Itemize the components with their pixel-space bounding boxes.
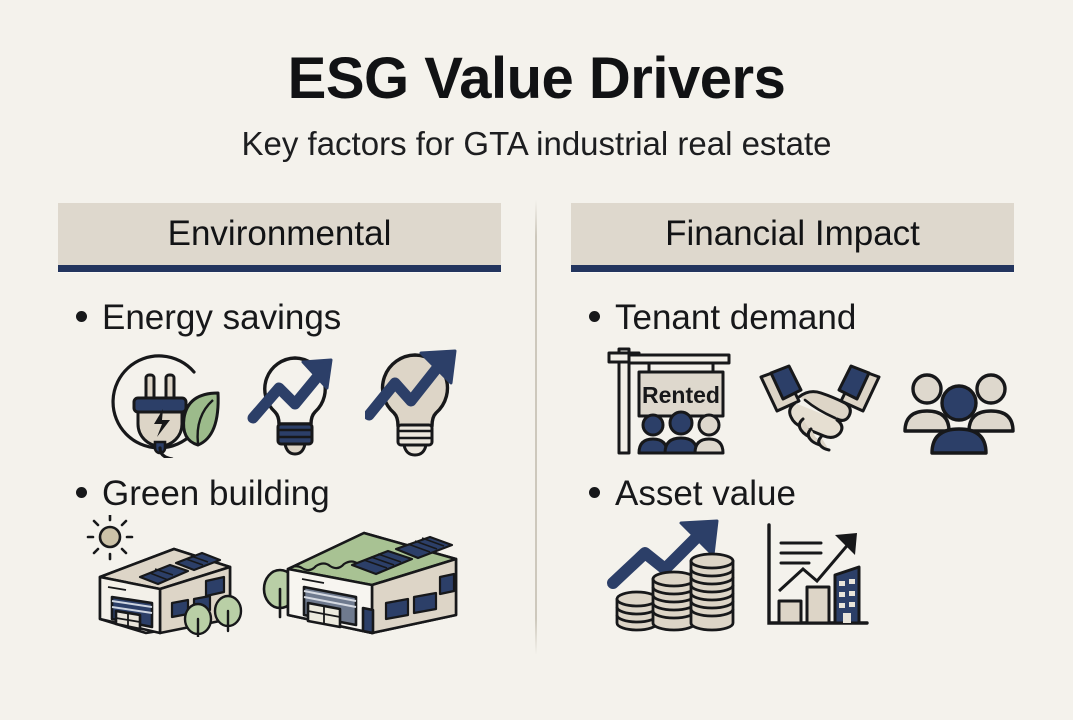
column-environmental: Environmental Energy savings: [58, 203, 501, 272]
page-subtitle: Key factors for GTA industrial real esta…: [0, 124, 1073, 164]
green-roof-warehouse-icon: [260, 515, 486, 637]
plug-leaf-icon: [100, 348, 225, 458]
lightbulb-growth-outline-icon: [247, 348, 343, 458]
icon-row-asset-value: [607, 513, 871, 633]
rented-sign-icon: Rented: [605, 343, 737, 457]
page-title: ESG Value Drivers: [0, 48, 1073, 110]
bar-chart-building-icon: [759, 519, 871, 633]
column-heading-band-financial: Financial Impact: [571, 203, 1014, 265]
lightbulb-growth-filled-icon: [365, 343, 469, 458]
infographic-slide: ESG Value Drivers Key factors for GTA in…: [0, 0, 1073, 720]
bullet-asset-value: Asset value: [589, 474, 796, 514]
people-group-icon: [903, 361, 1015, 457]
column-divider: [535, 200, 537, 655]
bullet-label: Energy savings: [102, 298, 341, 338]
icon-row-tenant-demand: Rented: [605, 343, 1015, 457]
column-heading-band-environmental: Environmental: [58, 203, 501, 265]
solar-warehouse-icon: [78, 515, 246, 637]
bullet-label: Tenant demand: [615, 298, 856, 338]
coin-stacks-growth-icon: [607, 513, 735, 633]
column-heading-label: Environmental: [168, 215, 392, 253]
bullet-label: Asset value: [615, 474, 796, 514]
column-heading-underline: [58, 265, 501, 272]
bullet-green-building: Green building: [76, 474, 330, 514]
bullet-energy-savings: Energy savings: [76, 298, 341, 338]
bullet-dot-icon: [589, 311, 600, 322]
icon-row-green-building: [78, 515, 486, 637]
rented-sign-label: Rented: [642, 382, 720, 408]
handshake-icon: [759, 357, 881, 457]
bullet-dot-icon: [589, 487, 600, 498]
icon-row-energy-savings: [100, 343, 469, 458]
column-heading-underline: [571, 265, 1014, 272]
bullet-tenant-demand: Tenant demand: [589, 298, 856, 338]
bullet-dot-icon: [76, 487, 87, 498]
column-financial-impact: Financial Impact Tenant demand Rented: [571, 203, 1014, 272]
bullet-label: Green building: [102, 474, 330, 514]
bullet-dot-icon: [76, 311, 87, 322]
column-heading-label: Financial Impact: [665, 215, 920, 253]
